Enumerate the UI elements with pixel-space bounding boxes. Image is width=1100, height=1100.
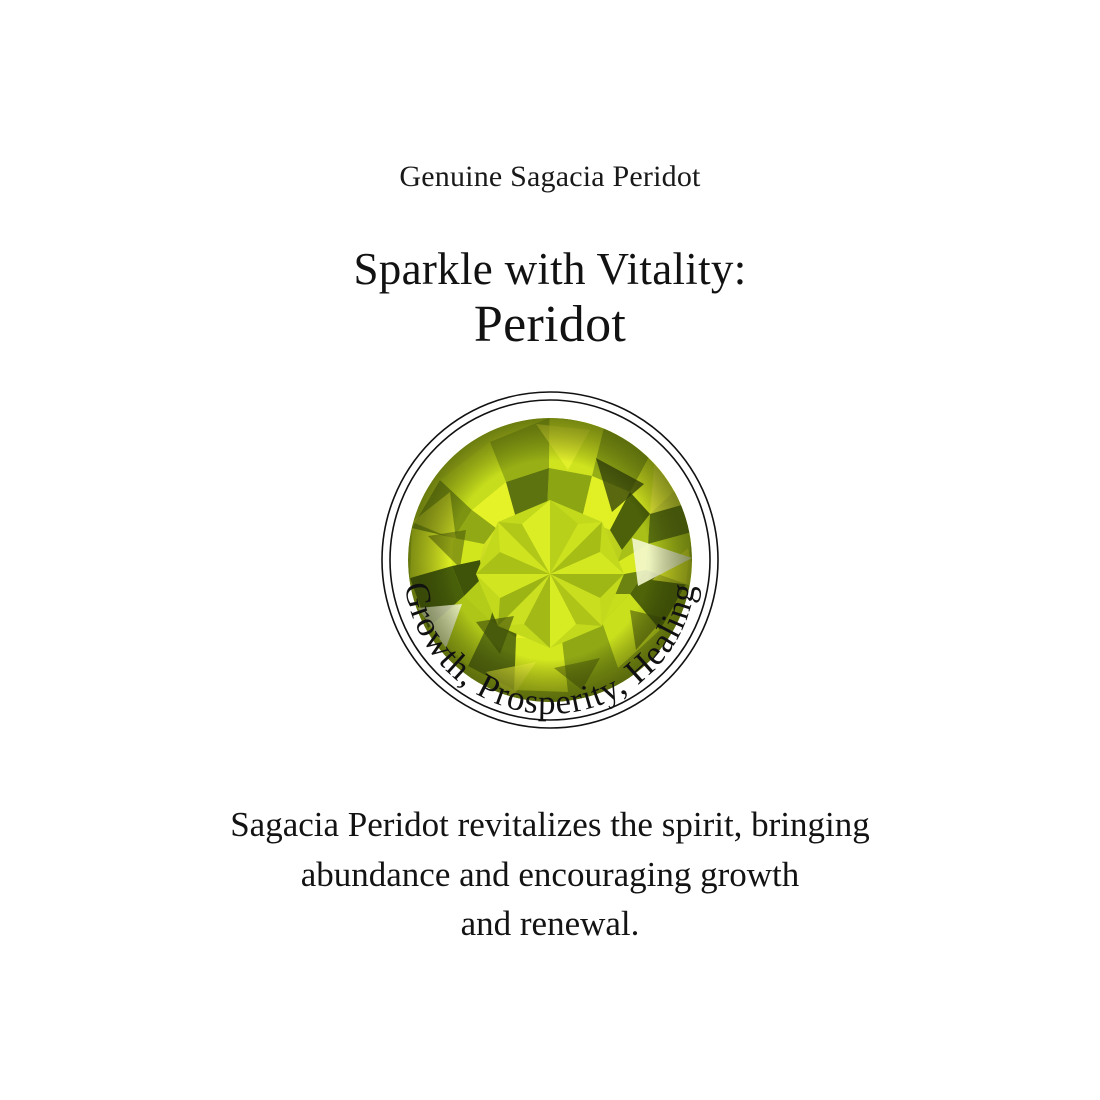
page-title: Sparkle with Vitality: Peridot (0, 243, 1100, 356)
description-line-1: Sagacia Peridot revitalizes the spirit, … (0, 800, 1100, 850)
description-line-2: abundance and encouraging growth (0, 850, 1100, 900)
description-text: Sagacia Peridot revitalizes the spirit, … (0, 800, 1100, 949)
headline-line-2: Peridot (0, 295, 1100, 355)
eyebrow-label: Genuine Sagacia Peridot (0, 160, 1100, 193)
description-line-3: and renewal. (0, 899, 1100, 949)
peridot-product-card: Genuine Sagacia Peridot Sparkle with Vit… (0, 0, 1100, 1100)
gem-emblem-svg: Growth, Prosperity, Healing (300, 372, 800, 792)
gem-emblem: Growth, Prosperity, Healing (0, 372, 1100, 792)
headline-line-1: Sparkle with Vitality: (0, 243, 1100, 295)
